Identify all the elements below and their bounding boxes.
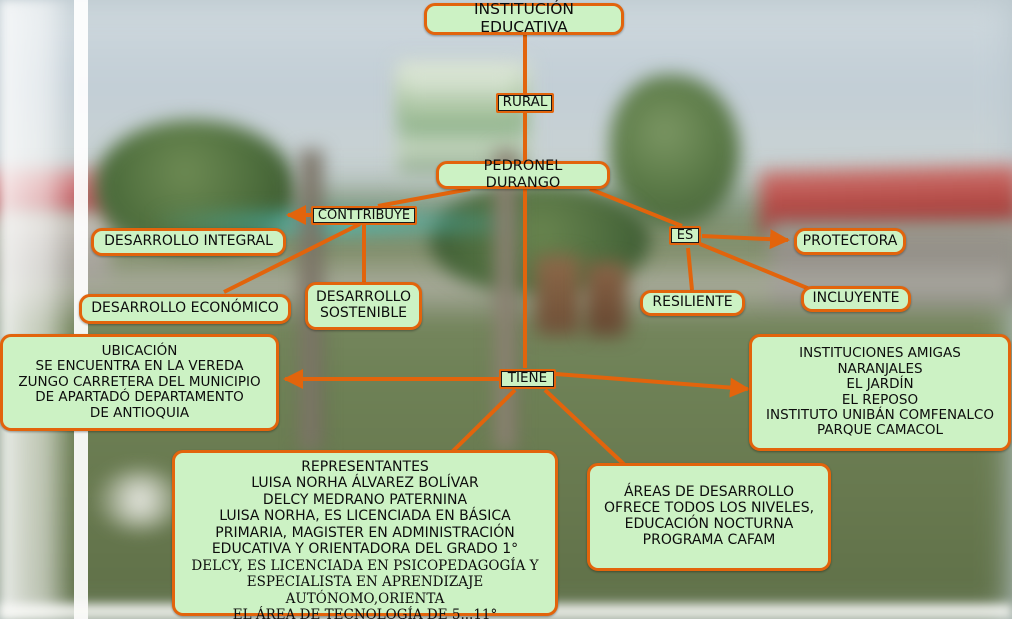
node-representantes[interactable]: REPRESENTANTES LUISA NORHA ÁLVAREZ BOLÍV… bbox=[172, 450, 558, 616]
node-institucion-educativa[interactable]: INSTITUCIÓN EDUCATIVA bbox=[424, 3, 624, 35]
node-protectora[interactable]: PROTECTORA bbox=[794, 228, 906, 255]
node-desarrollo-sostenible[interactable]: DESARROLLO SOSTENIBLE bbox=[305, 282, 422, 330]
node-instituciones-amigas[interactable]: INSTITUCIONES AMIGAS NARANJALES EL JARDÍ… bbox=[749, 334, 1011, 451]
connector-rural[interactable]: RURAL bbox=[496, 93, 554, 113]
connector-conttribuye[interactable]: CONTTRIBUYE bbox=[311, 206, 417, 225]
node-incluyente[interactable]: INCLUYENTE bbox=[801, 286, 911, 312]
link-tiene-instituciones bbox=[556, 374, 748, 389]
node-desarrollo-integral[interactable]: DESARROLLO INTEGRAL bbox=[91, 228, 286, 256]
concept-map-canvas: INSTITUCIÓN EDUCATIVA RURAL PEDRONEL DUR… bbox=[0, 0, 1012, 619]
link-es-resiliente bbox=[688, 248, 692, 290]
link-es-incluyente bbox=[700, 244, 812, 290]
link-es-protectora bbox=[702, 236, 788, 240]
node-pedronel-durango[interactable]: PEDRONEL DURANGO bbox=[436, 161, 610, 189]
link-pedronel-conttribuye bbox=[378, 189, 470, 206]
node-desarrollo-economico[interactable]: DESARROLLO ECONÓMICO bbox=[79, 294, 291, 324]
node-ubicacion[interactable]: UBICACIÓN SE ENCUENTRA EN LA VEREDA ZUNG… bbox=[0, 334, 279, 431]
link-tiene-representantes bbox=[452, 390, 515, 452]
node-resiliente[interactable]: RESILIENTE bbox=[640, 290, 745, 316]
node-areas-desarrollo[interactable]: ÁREAS DE DESARROLLO OFRECE TODOS LOS NIV… bbox=[587, 463, 831, 571]
link-pedronel-es bbox=[590, 189, 682, 226]
representantes-serif-text: DELCY, ES LICENCIADA EN PSICOPEDAGOGÍA Y… bbox=[181, 558, 549, 619]
representantes-sans-text: REPRESENTANTES LUISA NORHA ÁLVAREZ BOLÍV… bbox=[212, 459, 518, 557]
connector-es[interactable]: ES bbox=[669, 226, 701, 245]
connector-tiene[interactable]: TIENE bbox=[499, 369, 556, 389]
